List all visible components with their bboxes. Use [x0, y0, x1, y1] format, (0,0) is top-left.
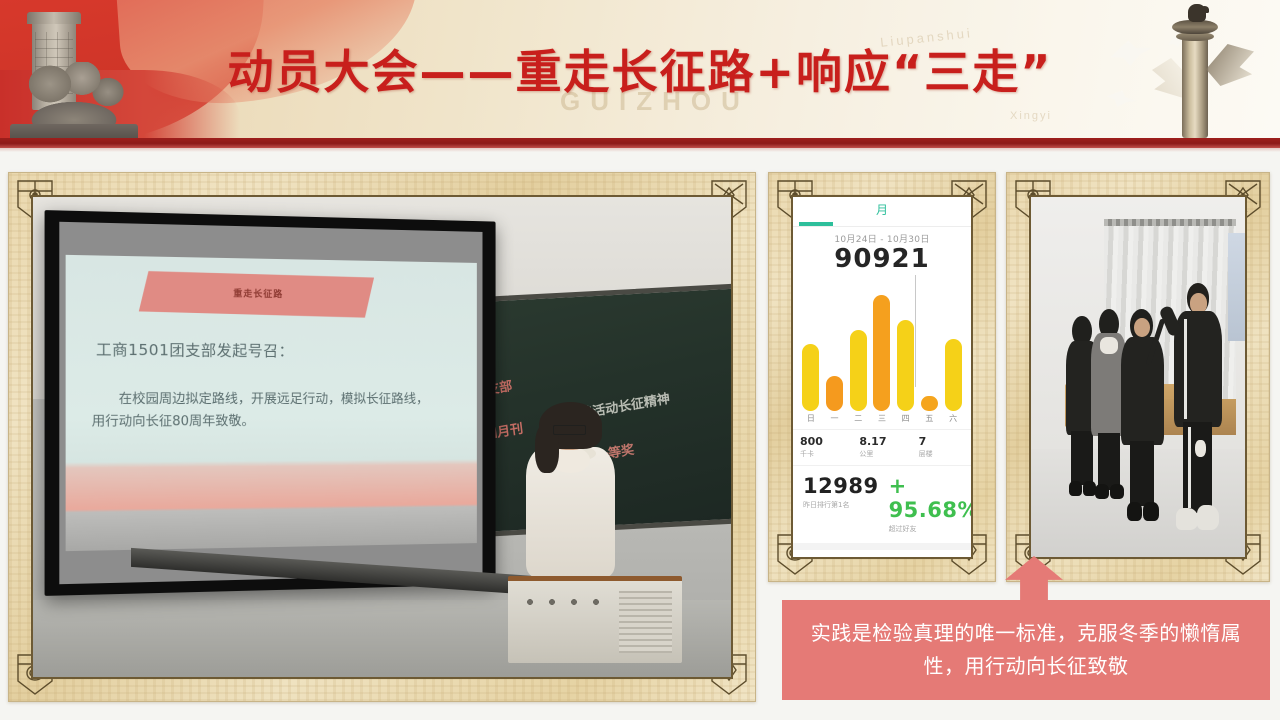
map-watermark-three: Xingyi — [1010, 110, 1052, 122]
tab-active-indicator — [799, 222, 833, 226]
stat-label: 超过好友 — [889, 524, 971, 534]
chart-x-label: 五 — [921, 413, 938, 427]
stat-label: 千卡 — [800, 449, 848, 459]
chart-bar — [897, 320, 914, 411]
chart-bar — [921, 396, 938, 411]
chart-x-label: 六 — [945, 413, 962, 427]
stat-cell: 12989昨日排行第1名 — [793, 474, 879, 534]
mini-stats-row: 800千卡8.17公里7层楼 — [793, 429, 971, 465]
stat-label: 公里 — [859, 449, 907, 459]
projected-slide-body: 在校园周边拟定路线，开展远足行动，模拟长征路线，用行动向长征80周年致敬。 — [92, 389, 430, 434]
header-divider-rule — [0, 138, 1280, 148]
tab-month[interactable]: 月 — [793, 201, 971, 218]
stat-value: + 95.68% — [889, 474, 971, 522]
projection-screen: 重走长征路 工商1501团支部发起号召： 在校园周边拟定路线，开展远足行动，模拟… — [45, 210, 496, 596]
chart-x-label: 三 — [873, 413, 890, 427]
chart-bar — [945, 339, 962, 411]
chart-x-label: 二 — [850, 413, 867, 427]
students-photo-frame[interactable] — [1006, 172, 1270, 582]
slide-header: GUIZHOU Liupanshui Xingyi 动员大会——重走长征路+响应… — [0, 0, 1280, 140]
chart-x-label: 四 — [897, 413, 914, 427]
stat-label: 昨日排行第1名 — [803, 500, 879, 510]
chart-bar — [802, 344, 819, 411]
stat-value: 7 — [919, 435, 967, 448]
stat-cell: + 95.68%超过好友 — [879, 474, 971, 534]
projected-slide: 重走长征路 工商1501团支部发起号召： 在校园周边拟定路线，开展远足行动，模拟… — [66, 255, 477, 552]
stat-cell: 8.17公里 — [852, 430, 911, 465]
projected-banner-text: 重走长征路 — [234, 287, 284, 301]
app-screenshot-frame[interactable]: 月 10月24日 - 10月30日 90921 日一二三四五六 800千卡8.1… — [768, 172, 996, 582]
page-title: 动员大会——重走长征路+响应“三走” — [0, 46, 1280, 98]
students-photo — [1029, 195, 1247, 559]
classroom-photo: 校一区研 级总 支部 四月刊 特活动长征精神 一等奖 重走长征路 工商1501团… — [31, 195, 733, 679]
projected-slide-banner: 重走长征路 — [139, 271, 374, 318]
student-figure-foreground — [1121, 305, 1164, 521]
student-figure-right — [1172, 283, 1223, 535]
chart-x-label: 一 — [826, 413, 843, 427]
classroom-photo-frame[interactable]: 校一区研 级总 支部 四月刊 特活动长征精神 一等奖 重走长征路 工商1501团… — [8, 172, 756, 702]
chart-bar — [826, 376, 843, 411]
app-screenshot: 月 10月24日 - 10月30日 90921 日一二三四五六 800千卡8.1… — [791, 195, 973, 559]
stat-cell: 7层楼 — [912, 430, 971, 465]
stat-value: 8.17 — [859, 435, 907, 448]
stat-value: 800 — [800, 435, 848, 448]
main-stats-row: 12989昨日排行第1名+ 95.68%超过好友 — [793, 465, 971, 543]
chart-bars — [799, 283, 965, 411]
caption-box: 实践是检验真理的唯一标准，克服冬季的懒惰属性，用行动向长征致敬 — [782, 600, 1270, 700]
header-divider-shadow — [0, 148, 1280, 152]
lectern — [508, 576, 683, 662]
stat-value: 12989 — [803, 474, 879, 498]
total-steps-value: 90921 — [793, 245, 971, 273]
stat-label: 层楼 — [919, 449, 967, 459]
chart-x-labels: 日一二三四五六 — [799, 413, 965, 427]
stat-cell: 800千卡 — [793, 430, 852, 465]
teacher-figure — [522, 408, 620, 600]
chart-bar — [850, 330, 867, 411]
app-tab-bar[interactable]: 月 — [793, 197, 971, 227]
steps-bar-chart: 日一二三四五六 — [799, 279, 965, 429]
chart-x-label: 日 — [802, 413, 819, 427]
projected-slide-heading: 工商1501团支部发起号召： — [96, 338, 294, 361]
foot-stats-row: x1徽章05m运动时长0.82k卡路里 — [793, 543, 971, 557]
chart-bar — [873, 295, 890, 411]
